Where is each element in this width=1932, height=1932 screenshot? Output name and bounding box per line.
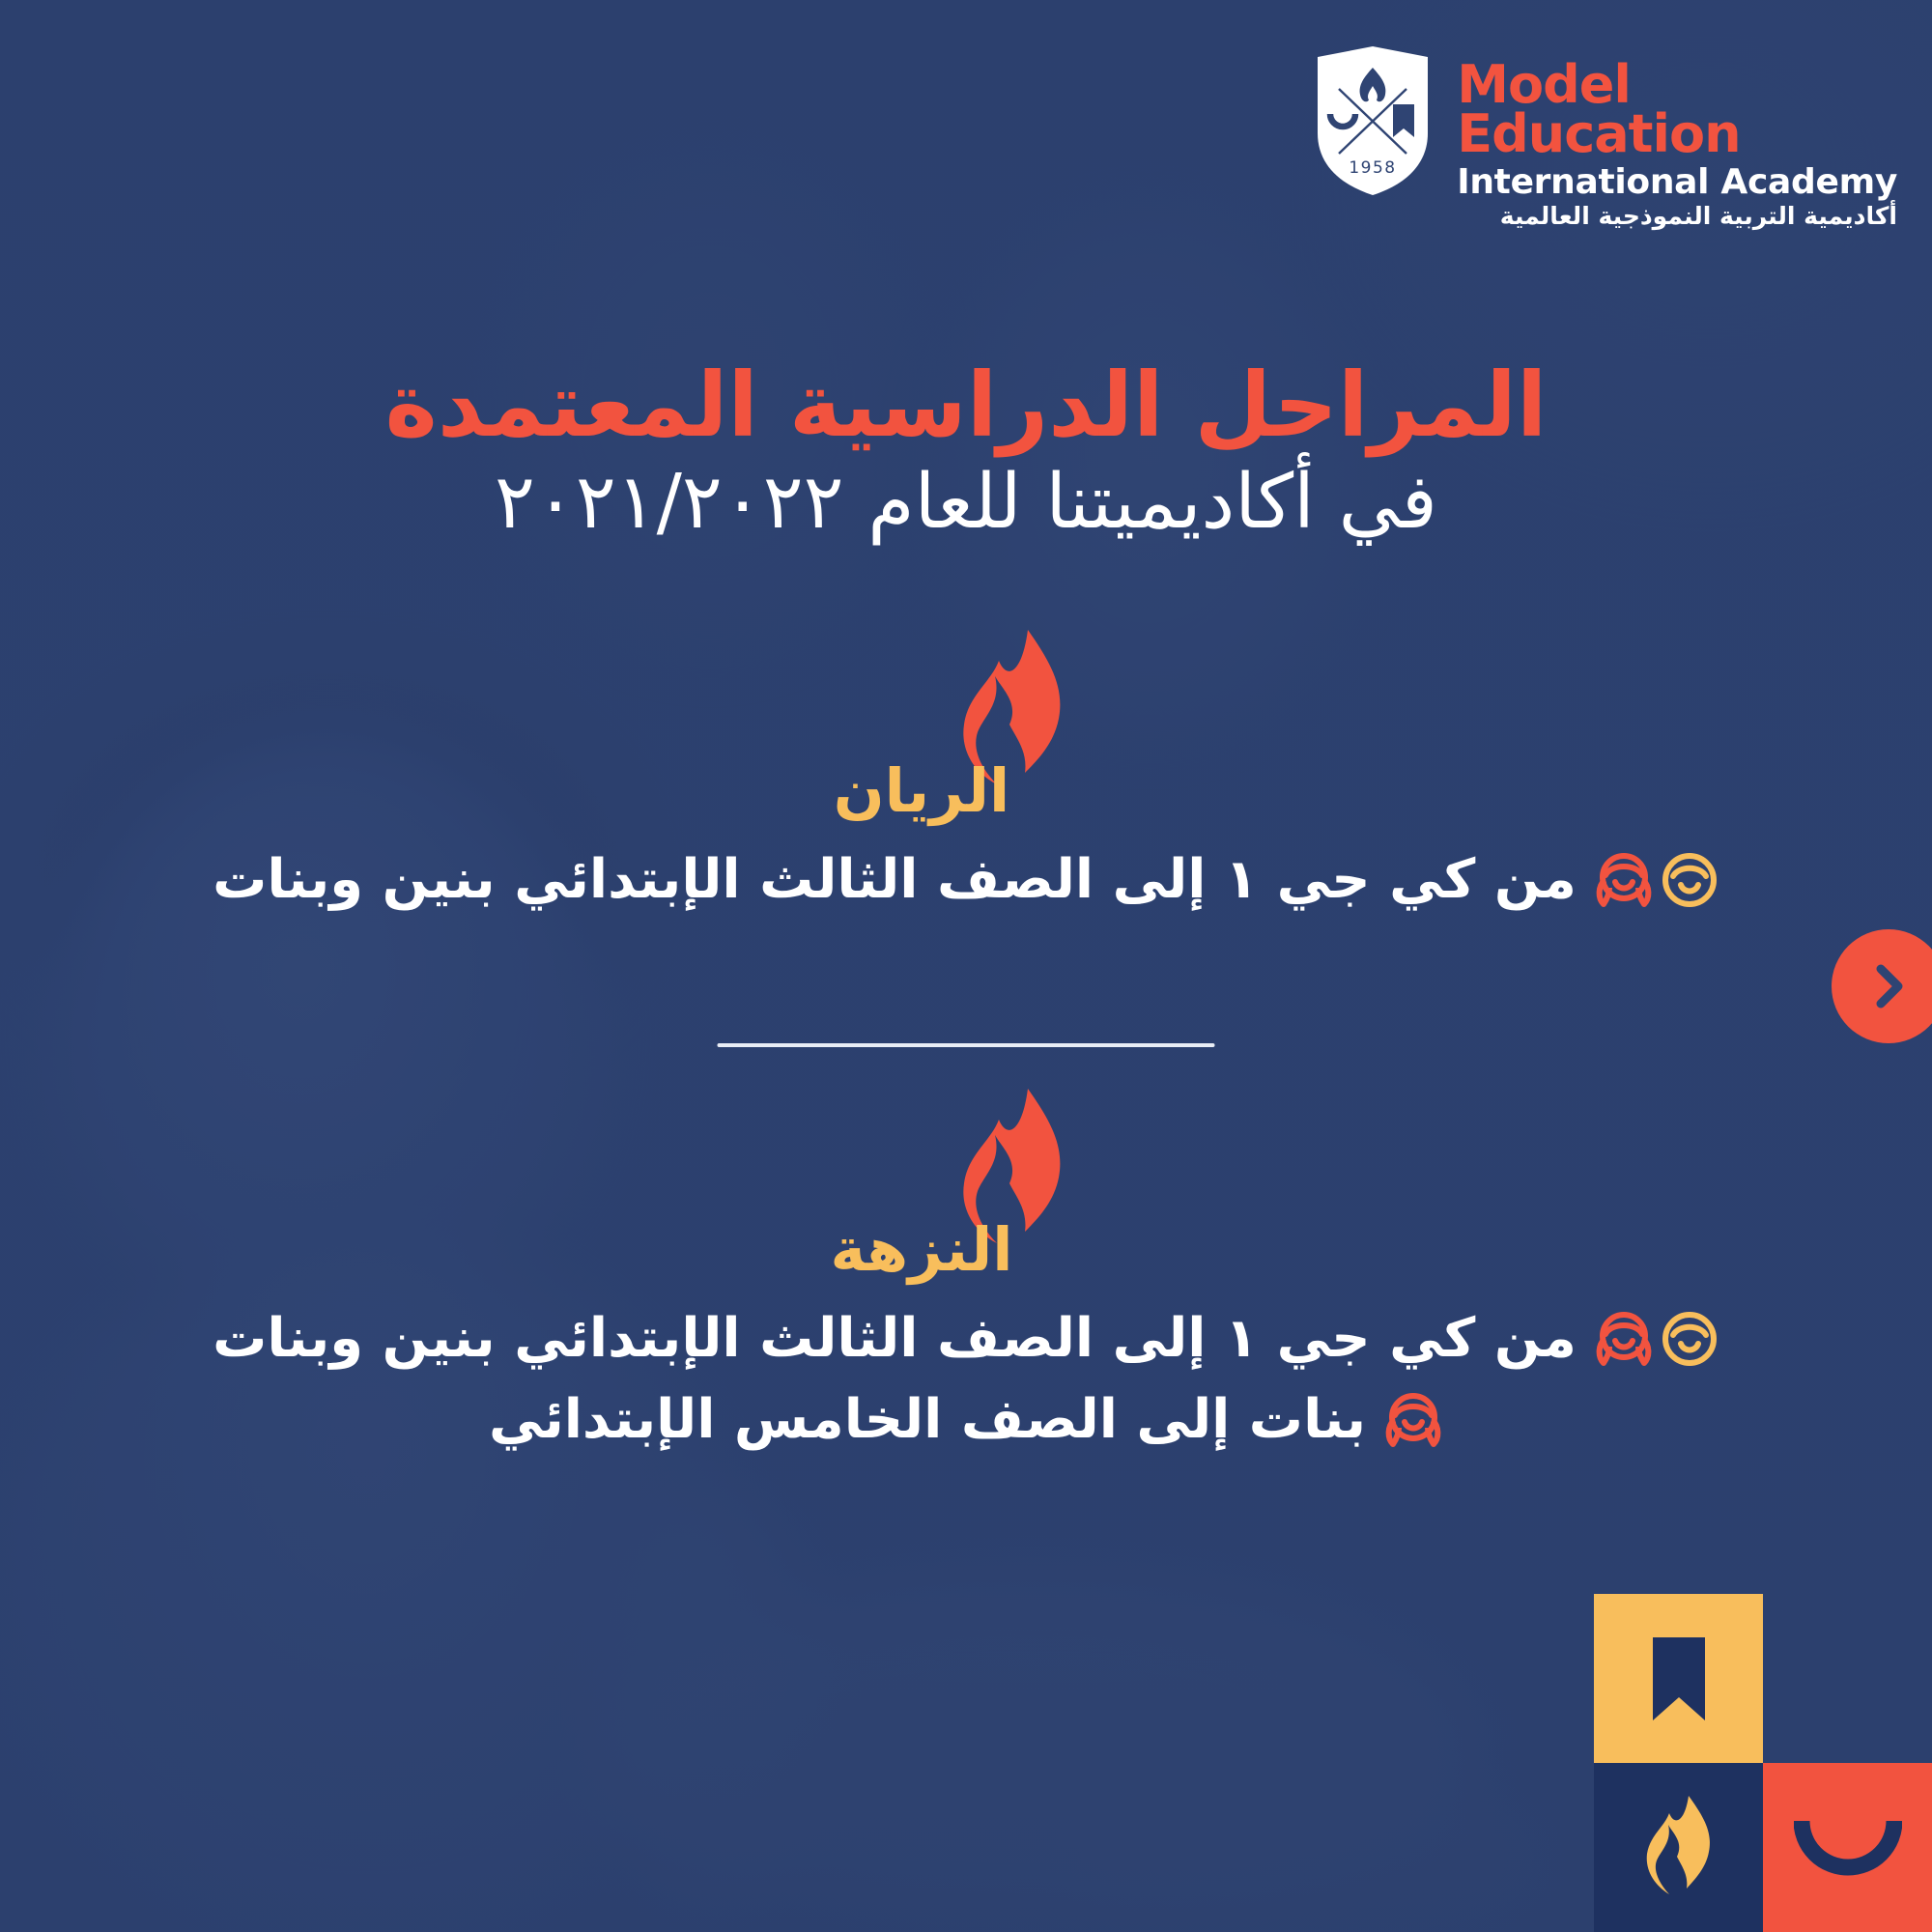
branch-line-text: بنات إلى الصف الخامس الإبتدائي: [489, 1386, 1366, 1454]
logo-word-education: Education: [1457, 109, 1897, 158]
corner-brand-mark: [1594, 1594, 1932, 1932]
branch-section-alrayyan: الريان من: [0, 628, 1932, 927]
branch-line: بنات إلى الصف الخامس الإبتدائي: [0, 1386, 1932, 1454]
poster-canvas: 1958 Model Education International Acade…: [0, 0, 1932, 1932]
logo-tagline-english: International Academy: [1457, 165, 1897, 200]
corner-tile-flame: [1594, 1763, 1763, 1932]
audience-icons: [1594, 1309, 1719, 1369]
boy-face-icon: [1660, 850, 1719, 910]
logo-word-model: Model: [1457, 60, 1897, 109]
chevron-right-icon: [1861, 959, 1916, 1013]
branch-heading: الريان: [0, 628, 1932, 821]
branch-line: من كي جي ١ إلى الصف الثالث الإبتدائي بني…: [0, 1305, 1932, 1373]
branch-line: من كي جي ١ إلى الصف الثالث الإبتدائي بني…: [0, 846, 1932, 914]
brand-logo-lockup: 1958 Model Education International Acade…: [1314, 44, 1897, 228]
headline-secondary: في أكاديميتنا للعام ٢٠٢١/٢٠٢٢: [0, 461, 1932, 545]
logo-tagline-arabic: أكاديمية التربية النموذجية العالمية: [1457, 204, 1897, 228]
bookmark-icon: [1649, 1635, 1709, 1722]
corner-tile-empty: [1763, 1594, 1932, 1763]
branch-name: الريان: [834, 761, 1010, 821]
headline-primary: المراحل الدراسية المعتمدة: [0, 357, 1932, 453]
corner-tile-smile: [1763, 1763, 1932, 1932]
brand-wordmark: Model Education International Academy أك…: [1457, 44, 1897, 228]
flame-icon: [1643, 1794, 1715, 1902]
girl-face-icon: [1383, 1390, 1443, 1450]
girl-face-icon: [1594, 850, 1654, 910]
branch-line-text: من كي جي ١ إلى الصف الثالث الإبتدائي بني…: [213, 1305, 1577, 1373]
branch-line-text: من كي جي ١ إلى الصف الثالث الإبتدائي بني…: [213, 846, 1577, 914]
smile-icon: [1794, 1817, 1902, 1879]
branch-name: النزهة: [831, 1220, 1013, 1280]
corner-tile-bookmark: [1594, 1594, 1763, 1763]
girl-face-icon: [1594, 1309, 1654, 1369]
audience-icons: [1594, 850, 1719, 910]
shield-logo-icon: 1958: [1314, 44, 1432, 197]
svg-text:1958: 1958: [1350, 158, 1397, 178]
section-divider: [718, 1043, 1215, 1047]
audience-icons: [1383, 1390, 1443, 1450]
headline-block: المراحل الدراسية المعتمدة في أكاديميتنا …: [0, 357, 1932, 546]
branch-heading: النزهة: [0, 1087, 1932, 1280]
branch-detail-lines: من كي جي ١ إلى الصف الثالث الإبتدائي بني…: [0, 846, 1932, 914]
branch-section-alnuzha: النزهة من: [0, 1087, 1932, 1467]
branch-detail-lines: من كي جي ١ إلى الصف الثالث الإبتدائي بني…: [0, 1305, 1932, 1454]
boy-face-icon: [1660, 1309, 1719, 1369]
